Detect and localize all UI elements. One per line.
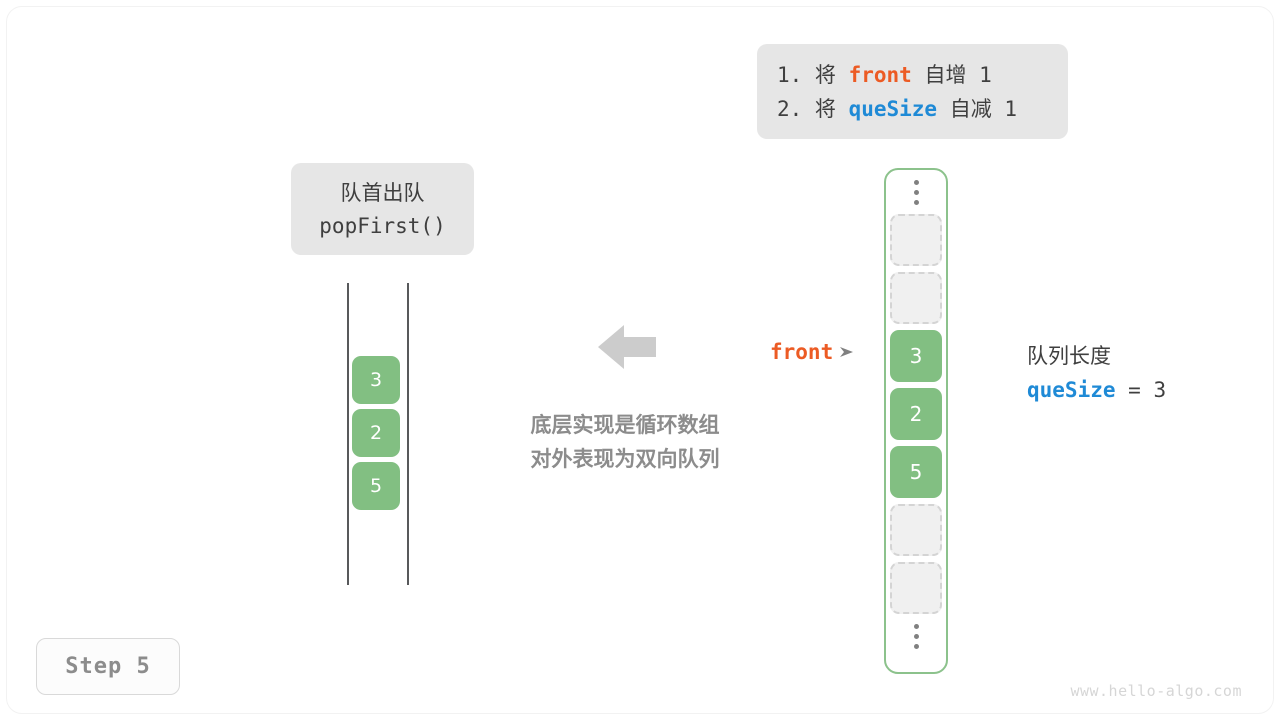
quesize-equals: = [1116, 378, 1154, 402]
step-badge: Step 5 [36, 638, 180, 695]
array-cell-filled: 2 [890, 388, 942, 440]
ellipsis-top-icon [886, 170, 946, 214]
left-queue-cell: 5 [352, 462, 400, 510]
center-note: 底层实现是循环数组 对外表现为双向队列 [495, 408, 755, 476]
left-queue-cells: 3 2 5 [352, 356, 404, 515]
operation-title-code: popFirst() [291, 209, 474, 243]
front-pointer-label: front [770, 340, 833, 364]
operation-step-1: 1. 将 front 自增 1 [777, 58, 1048, 92]
left-queue-cell: 3 [352, 356, 400, 404]
array-cell-empty [890, 214, 942, 266]
dot [914, 180, 919, 185]
center-note-line-1: 底层实现是循环数组 [495, 408, 755, 442]
dot [914, 624, 919, 629]
array-cell-empty [890, 272, 942, 324]
queue-size-expression: queSize = 3 [1027, 373, 1257, 407]
step1-suffix: 自增 1 [912, 63, 992, 87]
move-left-arrow-icon [598, 322, 656, 372]
array-cell-empty [890, 562, 942, 614]
left-queue-visual: 3 2 5 [340, 283, 416, 585]
step1-prefix: 1. 将 [777, 63, 849, 87]
watermark: www.hello-algo.com [1070, 682, 1242, 700]
step2-suffix: 自减 1 [937, 97, 1017, 121]
array-cell-filled: 3 [890, 330, 942, 382]
queue-rail-right [407, 283, 409, 585]
circular-array-cells: 3 2 5 [890, 214, 942, 614]
queue-size-note: 队列长度 queSize = 3 [1027, 340, 1257, 407]
queue-size-label: 队列长度 [1027, 340, 1257, 373]
circular-array-container: 3 2 5 [884, 168, 948, 674]
quesize-variable: queSize [1027, 378, 1116, 402]
center-note-line-2: 对外表现为双向队列 [495, 442, 755, 476]
front-pointer-arrow-icon [840, 343, 854, 362]
ellipsis-bottom-icon [886, 614, 946, 658]
quesize-value: 3 [1153, 378, 1166, 402]
step2-prefix: 2. 将 [777, 97, 849, 121]
operation-steps-callout: 1. 将 front 自增 1 2. 将 queSize 自减 1 [757, 44, 1068, 139]
operation-step-2: 2. 将 queSize 自减 1 [777, 92, 1048, 126]
dot [914, 644, 919, 649]
dot [914, 200, 919, 205]
queue-rail-left [347, 283, 349, 585]
front-pointer: front [770, 340, 854, 364]
step1-code: front [849, 63, 912, 87]
step2-code: queSize [849, 97, 938, 121]
operation-title-chinese: 队首出队 [291, 177, 474, 209]
array-cell-filled: 5 [890, 446, 942, 498]
dot [914, 634, 919, 639]
diagram-canvas: 1. 将 front 自增 1 2. 将 queSize 自减 1 队首出队 p… [0, 0, 1280, 720]
dot [914, 190, 919, 195]
operation-title-callout: 队首出队 popFirst() [291, 163, 474, 255]
array-cell-empty [890, 504, 942, 556]
left-queue-cell: 2 [352, 409, 400, 457]
